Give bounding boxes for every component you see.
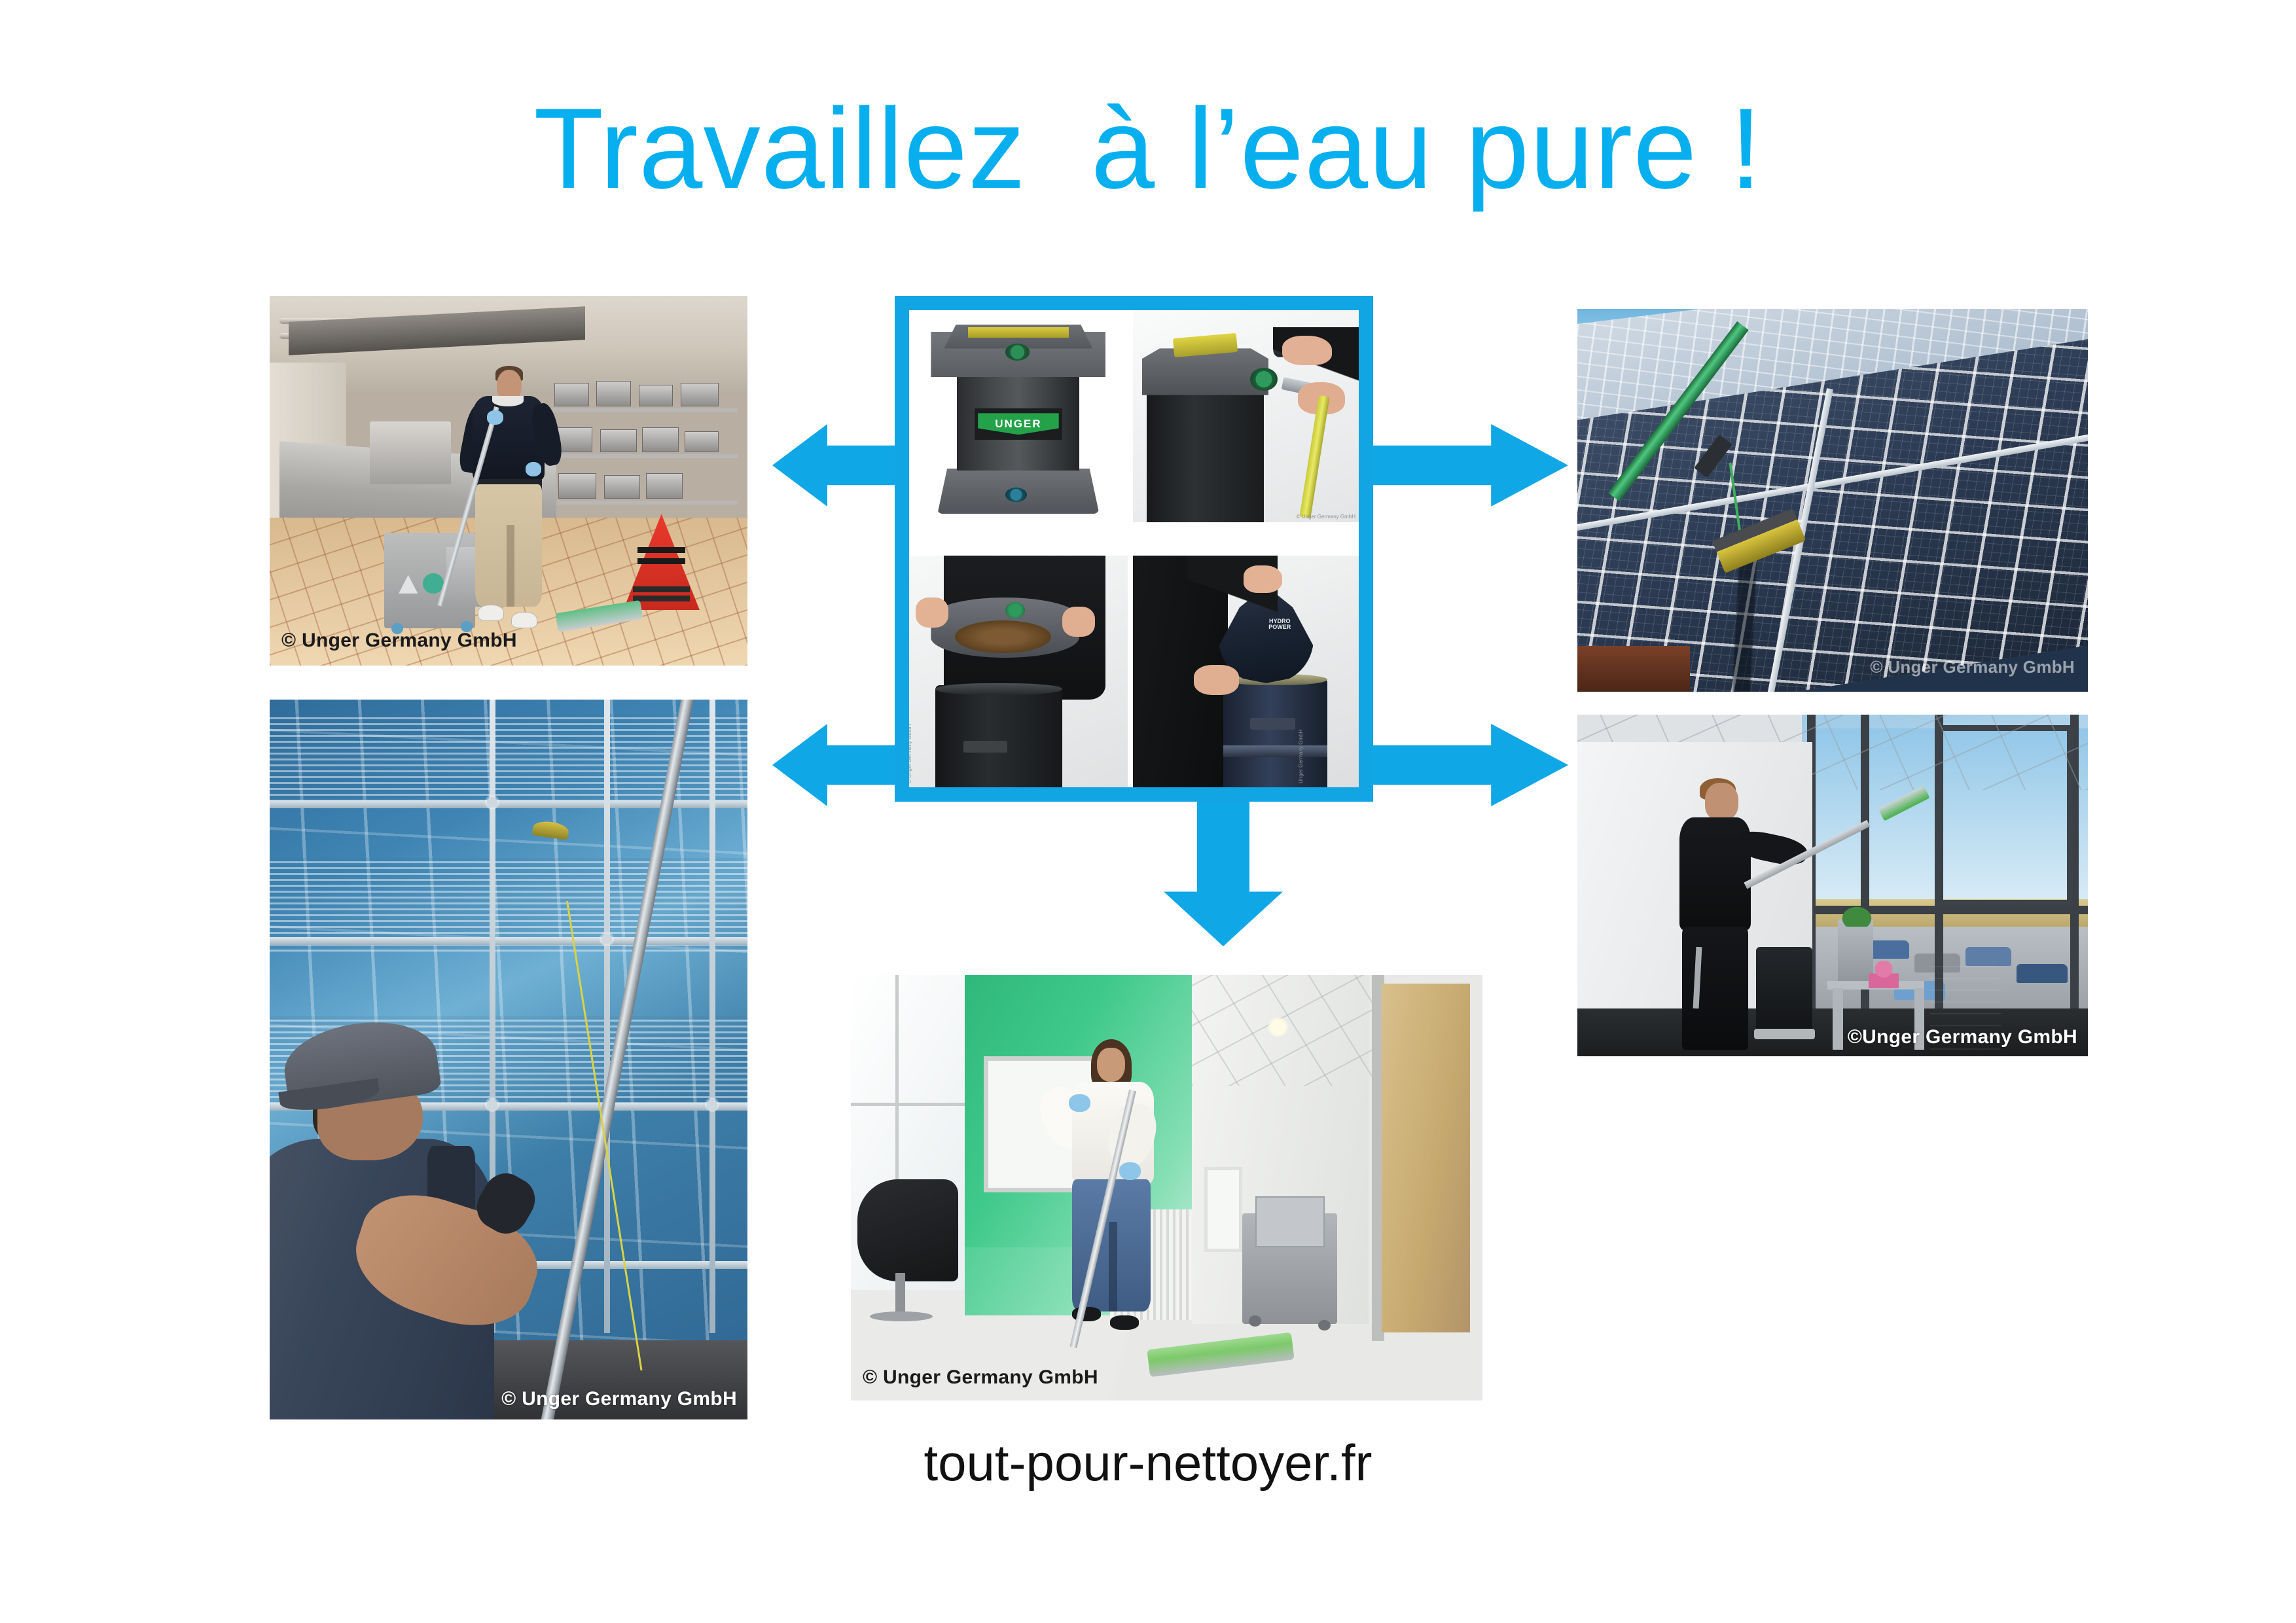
product-inlet-port [1005, 344, 1030, 361]
product-outlet-port [1005, 488, 1027, 502]
photo-watermark: © Unger Germany GmbH [863, 1366, 1098, 1389]
person-hand [1244, 565, 1282, 593]
quadrant-watermark: Unger Germany GmbH [1298, 730, 1304, 783]
footer-website-url: tout-pour-nettoyer.fr [0, 1433, 2296, 1493]
wall-picture [1204, 1167, 1242, 1252]
photo-solar-panel-cleaning: © Unger Germany GmbH [1577, 309, 2088, 692]
arrow-left-bottom-icon [772, 724, 903, 806]
person-hand [1282, 336, 1332, 365]
trolley-wheel [1249, 1315, 1261, 1327]
person-hand [1194, 665, 1239, 695]
arrow-right-top-icon [1365, 424, 1568, 507]
product-drum [1147, 378, 1264, 523]
photo-watermark: © Unger Germany GmbH [501, 1388, 737, 1410]
parked-car [2017, 964, 2068, 983]
facade-mullion [270, 800, 747, 808]
bag-brand-line2: POWER [1268, 624, 1291, 630]
product-drum-lip [935, 683, 1062, 695]
photo-watermark: ©Unger Germany GmbH [1848, 1026, 2077, 1048]
facade-mullion [604, 700, 610, 1333]
sign-text-line [637, 558, 685, 564]
drum-grip [1250, 718, 1295, 730]
quadrant-filter-removal: © Unger Germany GmbH [909, 556, 1128, 787]
facade-mullion [270, 937, 747, 945]
sign-text-line [633, 586, 691, 592]
photo-kitchen-floor-mopping: © Unger Germany GmbH [270, 296, 747, 666]
product-yellow-insert [968, 327, 1069, 338]
chair-stem [895, 1273, 905, 1315]
person-hand [1062, 607, 1095, 637]
person-hand [916, 597, 948, 628]
glass-spider-fitting [601, 934, 612, 944]
glass-spider-fitting [707, 1099, 717, 1110]
bag-brand-label: HYDRO POWER [1250, 618, 1309, 637]
worker-shoe [1110, 1315, 1139, 1330]
parked-car [1965, 947, 2011, 966]
worker-glove [487, 410, 503, 424]
worker-glove [1069, 1094, 1090, 1112]
quadrant-watermark: © Unger Germany GmbH [909, 724, 912, 783]
slide-canvas: Travaillez à l’eau pure ! [0, 0, 2296, 1623]
facade-mullion [709, 700, 715, 1333]
product-quadrant-grid: UNGER © Unger Germany GmbH [909, 310, 1359, 787]
arrow-down-icon [1164, 794, 1283, 946]
quadrant-hose-connection: © Unger Germany GmbH [1133, 310, 1359, 522]
waste-bin [1756, 947, 1812, 1033]
kitchen-steamer [370, 421, 451, 484]
quadrant-watermark: © Unger Germany GmbH [1297, 514, 1355, 520]
trolley-bag [1255, 1196, 1325, 1247]
worker-leg-split [1109, 1222, 1118, 1311]
quadrant-resin-bag: HYDRO POWER Unger Germany GmbH [1133, 556, 1359, 787]
photo-watermark: © Unger Germany GmbH [281, 630, 517, 652]
photo-corridor-floor-mopping: © Unger Germany GmbH [851, 975, 1482, 1400]
drum-grip [963, 741, 1007, 753]
worker-trousers [1682, 927, 1748, 1050]
worker-leg-split [507, 525, 514, 606]
worker-head [1097, 1048, 1124, 1082]
photo-office-window-cleaning: ©Unger Germany GmbH [1577, 715, 2088, 1056]
worker-shoe [478, 605, 504, 621]
filter-disc [955, 620, 1051, 652]
sign-text-line [633, 596, 691, 601]
window-transom [851, 1103, 965, 1106]
quadrant-product-hero: UNGER [909, 310, 1128, 550]
worker-head [1705, 783, 1738, 820]
photo-facade-glass-cleaning: © Unger Germany GmbH [270, 700, 747, 1419]
product-lid-shell [1142, 348, 1268, 395]
arrow-right-bottom-icon [1365, 724, 1568, 806]
worker-glove [1119, 1162, 1141, 1180]
roof-edge [1577, 646, 1690, 692]
sign-text-line [637, 547, 685, 553]
drum-band [1223, 745, 1327, 757]
plant [1833, 899, 1881, 927]
chair-base [870, 1311, 933, 1322]
flower-vase [1869, 961, 1899, 988]
glass-spider-fitting [487, 1099, 497, 1110]
ceiling-light [1268, 1018, 1288, 1037]
center-product-frame: UNGER © Unger Germany GmbH [895, 296, 1373, 802]
product-drum [1223, 679, 1327, 787]
photo-watermark: © Unger Germany GmbH [1870, 657, 2075, 677]
product-inlet-port [1005, 602, 1025, 618]
product-drum [935, 685, 1062, 787]
worker-shoe [511, 612, 537, 628]
table-leg [1833, 988, 1843, 1050]
worker-glove [526, 462, 542, 476]
page-title: Travaillez à l’eau pure ! [0, 92, 2296, 206]
lounge-chair [857, 1179, 958, 1281]
waste-bin-base [1754, 1029, 1816, 1039]
arrow-left-top-icon [772, 424, 903, 507]
glass-spider-fitting [487, 797, 497, 808]
